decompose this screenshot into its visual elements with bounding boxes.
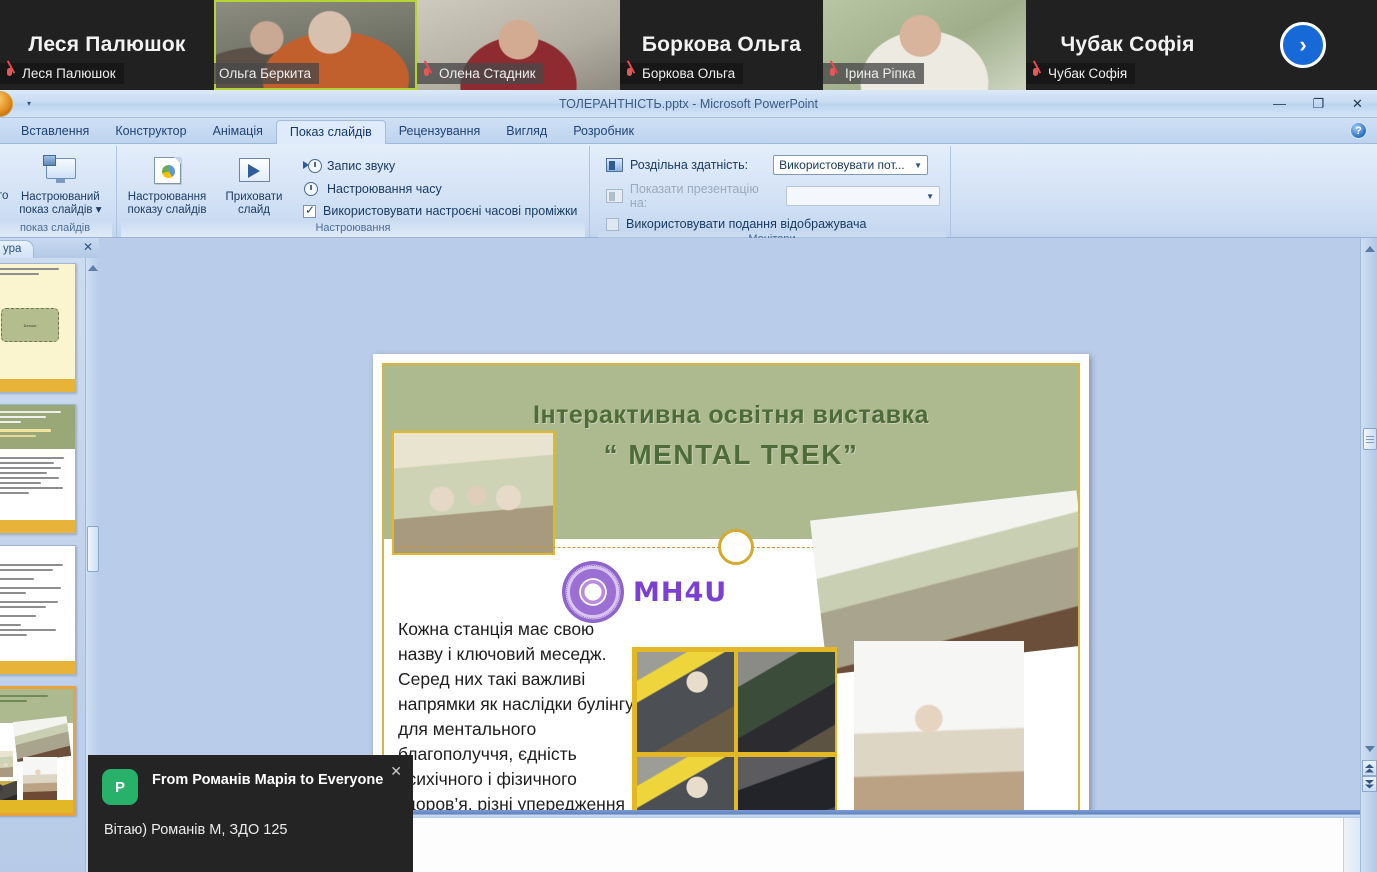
quick-access-toolbar[interactable]: ▾	[27, 99, 31, 108]
station-poster-photo-1	[637, 652, 734, 752]
close-button[interactable]: ✕	[1338, 93, 1377, 115]
custom-slideshow-button[interactable]: Настроюваний показ слайдів ▾	[12, 152, 108, 220]
close-icon[interactable]: ✕	[83, 240, 93, 254]
ribbon-group-title: показ слайдів	[0, 220, 112, 237]
window-controls: — ❐ ✕	[1260, 90, 1377, 118]
participant-display-name: Леся Палюшок	[28, 33, 185, 57]
participant-tile-6[interactable]: Чубак Софія Чубак Софія	[1026, 0, 1229, 90]
sidebar-tab-bar: ура ✕	[0, 238, 99, 258]
video-participant-strip: Леся Палюшок Леся Палюшок Ольга Беркита …	[0, 0, 1377, 90]
scrollbar-thumb[interactable]	[87, 526, 99, 572]
mh4u-logo: MH4U	[562, 561, 727, 623]
muted-mic-icon	[1031, 67, 1042, 81]
scrollbar-thumb[interactable]	[1363, 428, 1377, 450]
participant-name-label: Олена Стадник	[417, 63, 544, 84]
hide-slide-icon	[237, 155, 271, 187]
chevron-up-icon	[1365, 246, 1375, 252]
clock-icon	[303, 181, 320, 197]
muted-mic-icon	[625, 67, 636, 81]
thumbnail-slide-3[interactable]	[0, 545, 76, 675]
screen: Леся Палюшок Леся Палюшок Ольга Беркита …	[0, 0, 1377, 872]
participant-name-label: Ольга Беркита	[214, 63, 319, 84]
muted-mic-icon	[5, 67, 16, 81]
thumbnail-slide-2[interactable]	[0, 404, 76, 534]
chat-message-text: Вітаю) Романів М, ЗДО 125	[102, 805, 399, 838]
tab-slideshow[interactable]: Показ слайдів	[276, 120, 386, 144]
decorative-gold-ring	[718, 529, 754, 565]
participant-name-label: Ірина Ріпка	[823, 63, 924, 84]
participant-tile-3[interactable]: Олена Стадник	[417, 0, 620, 90]
setup-slideshow-button[interactable]: Настроювання показу слайдів	[121, 152, 213, 220]
participant-name-label: Чубак Софія	[1026, 63, 1135, 84]
participant-tile-2[interactable]: Ольга Беркита	[214, 0, 417, 90]
next-participants-page[interactable]: ›	[1229, 0, 1377, 90]
rehearse-timings-button[interactable]: Настроювання часу	[303, 181, 577, 197]
resolution-row: Роздільна здатність: Використовувати пот…	[606, 155, 940, 175]
ribbon-tab-bar: Вставлення Конструктор Анімація Показ сл…	[0, 118, 1377, 144]
next-slide-button[interactable]	[1362, 776, 1377, 792]
show-on-dropdown[interactable]: ▼	[786, 186, 940, 206]
chevron-right-icon[interactable]: ›	[1280, 22, 1326, 68]
tab-design[interactable]: Конструктор	[102, 120, 199, 143]
restore-button[interactable]: ❐	[1299, 93, 1338, 115]
ribbon-group-title: Настроювання	[121, 220, 585, 237]
thumbnail-slide-1[interactable]: Батьки	[0, 263, 76, 393]
tab-developer[interactable]: Розробник	[560, 120, 647, 143]
custom-show-icon	[43, 155, 77, 187]
slide-vertical-scrollbar[interactable]	[1360, 238, 1377, 872]
tab-outline[interactable]: ура	[0, 240, 34, 258]
participant-tile-1[interactable]: Леся Палюшок Леся Палюшок	[0, 0, 214, 90]
muted-mic-icon	[828, 67, 839, 81]
group-certificates-photo[interactable]	[392, 431, 555, 555]
window-title: ТОЛЕРАНТНІСТЬ.pptx - Microsoft PowerPoin…	[0, 97, 1377, 111]
use-timings-checkbox[interactable]	[303, 205, 316, 218]
chevron-down-icon	[1365, 746, 1375, 752]
avatar: Р	[102, 769, 138, 805]
hide-slide-button[interactable]: Приховати слайд	[217, 152, 291, 220]
participant-name-label: Боркова Ольга	[620, 63, 743, 84]
minimize-button[interactable]: —	[1260, 93, 1299, 115]
cut-off-button-label[interactable]: го	[0, 152, 8, 202]
help-icon[interactable]: ?	[1350, 122, 1367, 139]
notes-scrollbar[interactable]	[1343, 818, 1360, 872]
presenter-view-checkbox[interactable]	[606, 218, 619, 231]
close-icon[interactable]: ✕	[390, 763, 402, 780]
tab-animation[interactable]: Анімація	[200, 120, 276, 143]
participant-tile-5[interactable]: Ірина Ріпка	[823, 0, 1026, 90]
ribbon-group-slideshow: го Настроюваний показ слайдів ▾ показ сл…	[0, 146, 117, 237]
participant-display-name: Боркова Ольга	[642, 33, 801, 57]
chevron-down-icon[interactable]: ▾	[27, 99, 31, 108]
mh4u-wordmark: MH4U	[633, 577, 727, 608]
scroll-up-icon[interactable]	[88, 265, 98, 271]
chevron-down-icon[interactable]: ▾	[96, 204, 102, 216]
monitor-icon	[606, 189, 623, 203]
show-on-label: Показати презентацію на:	[630, 182, 779, 210]
setup-options-list: Запис звуку Настроювання часу Використов…	[295, 152, 581, 218]
tab-review[interactable]: Рецензування	[386, 120, 493, 143]
participant-display-name: Чубак Софія	[1060, 33, 1194, 57]
ribbon-group-setup: Настроювання показу слайдів Приховати сл…	[117, 146, 590, 237]
presenter-view-row[interactable]: Використовувати подання відображувача	[606, 217, 940, 231]
resolution-label: Роздільна здатність:	[630, 158, 748, 172]
participant-tile-4[interactable]: Боркова Ольга Боркова Ольга	[620, 0, 823, 90]
current-slide[interactable]: Інтерактивна освітня виставка “ MENTAL T…	[373, 354, 1089, 872]
record-sound-icon	[303, 158, 320, 174]
participant-name-label: Леся Палюшок	[0, 63, 124, 84]
resolution-dropdown[interactable]: Використовувати пот... ▼	[773, 155, 928, 175]
record-narration-button[interactable]: Запис звуку	[303, 158, 577, 174]
scroll-down-button[interactable]	[1363, 742, 1376, 756]
slide-thumbnail-panel: ура ✕ Батьки	[0, 238, 99, 872]
crowd-photo-1	[738, 652, 835, 752]
use-timings-checkbox-row[interactable]: Використовувати настроєні часові проміжк…	[303, 204, 577, 218]
chevron-down-icon[interactable]: ▼	[911, 161, 925, 170]
tab-view[interactable]: Вигляд	[493, 120, 560, 143]
thumbnail-list[interactable]: Батьки	[0, 258, 85, 872]
setup-show-icon	[150, 155, 184, 187]
ribbon: го Настроюваний показ слайдів ▾ показ сл…	[0, 144, 1377, 238]
title-bar: ▾ ТОЛЕРАНТНІСТЬ.pptx - Microsoft PowerPo…	[0, 90, 1377, 118]
thumbnail-slide-4[interactable]	[0, 686, 76, 816]
tab-insert[interactable]: Вставлення	[8, 120, 102, 143]
chat-notification-toast[interactable]: ✕ Р From Романів Марія to Everyone Вітаю…	[88, 755, 413, 872]
office-button-icon[interactable]	[0, 91, 13, 117]
monitor-icon	[606, 158, 623, 172]
previous-slide-button[interactable]	[1362, 760, 1377, 776]
mh4u-ring-icon	[562, 561, 624, 623]
chat-from-line: From Романів Марія to Everyone	[152, 769, 383, 805]
show-presentation-on-row: Показати презентацію на: ▼	[606, 182, 940, 210]
ribbon-group-monitors: Роздільна здатність: Використовувати пот…	[594, 146, 951, 237]
scroll-up-button[interactable]	[1363, 242, 1376, 256]
muted-mic-icon	[422, 67, 433, 81]
chevron-down-icon[interactable]: ▼	[923, 192, 937, 201]
